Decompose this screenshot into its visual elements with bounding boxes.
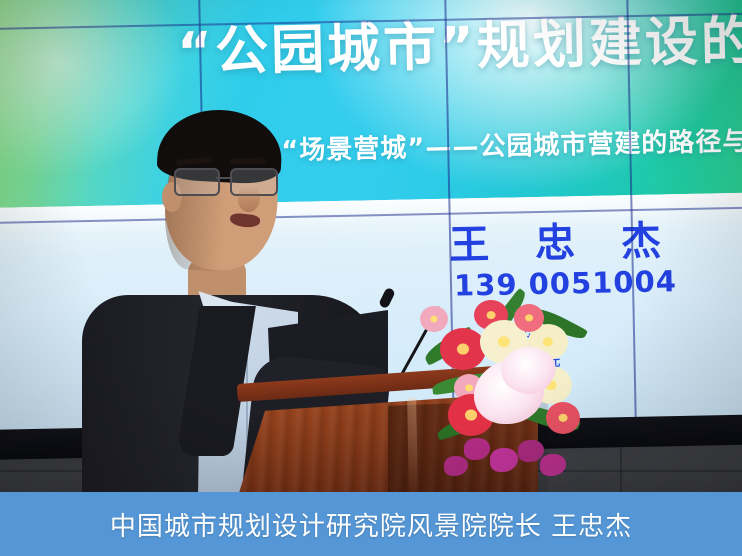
bouquet-orchid xyxy=(540,454,566,476)
bouquet-orchid xyxy=(464,438,490,460)
speaker-eyebrow-right xyxy=(230,157,266,164)
flower-bouquet xyxy=(418,298,608,494)
bouquet-flower xyxy=(440,328,486,370)
bouquet-orchid xyxy=(518,440,544,462)
bouquet-flower xyxy=(514,304,544,332)
bouquet-orchid xyxy=(490,448,518,472)
photo-stage: “公园城市”规划建设的新 “场景营城”——公园城市营建的路径与模 王 忠 杰 1… xyxy=(0,0,742,556)
bouquet-orchid xyxy=(444,456,468,476)
bouquet-flower xyxy=(420,306,448,332)
glasses-lens-left xyxy=(174,168,220,196)
glasses-icon xyxy=(174,168,278,194)
caption-bar: 中国城市规划设计研究院风景院院长 王忠杰 xyxy=(0,492,742,556)
caption-text: 中国城市规划设计研究院风景院院长 王忠杰 xyxy=(110,506,632,543)
wall-seam-vertical xyxy=(620,440,622,492)
bouquet-flower xyxy=(546,402,580,434)
podium-corner-edge xyxy=(407,398,418,498)
